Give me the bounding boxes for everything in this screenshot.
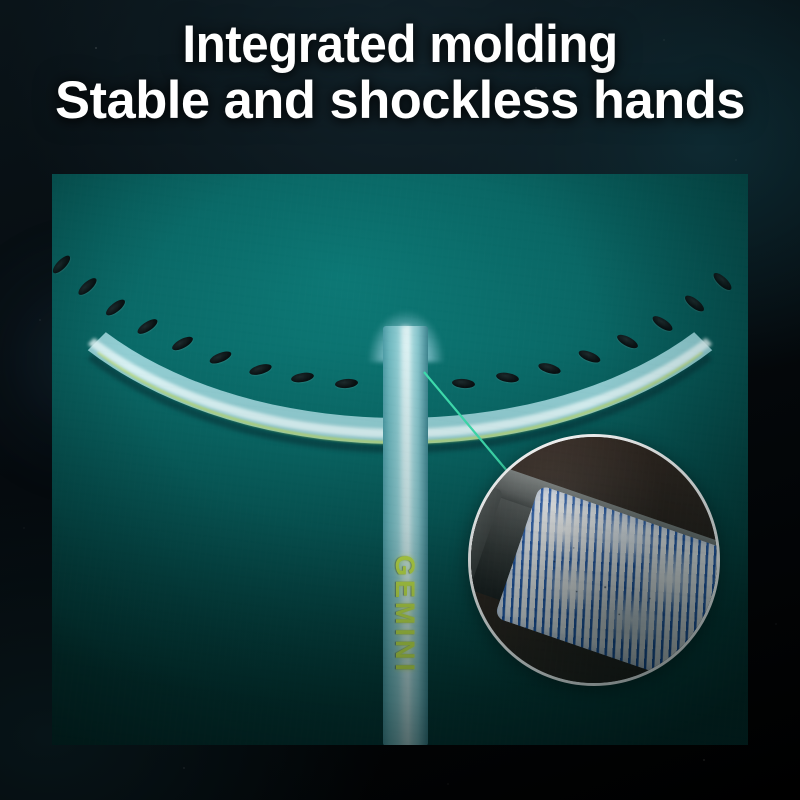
magnified-inset-circle [468, 434, 720, 686]
headline-line-2: Stable and shockless hands [4, 74, 796, 128]
headline: Integrated molding Stable and shockless … [0, 18, 800, 128]
headline-line-1: Integrated molding [28, 18, 772, 72]
racket-shaft-highlight [401, 326, 410, 745]
product-photo: GEMINI [52, 174, 748, 745]
product-banner: Integrated molding Stable and shockless … [0, 0, 800, 800]
racket-brand-label: GEMINI [320, 595, 490, 635]
